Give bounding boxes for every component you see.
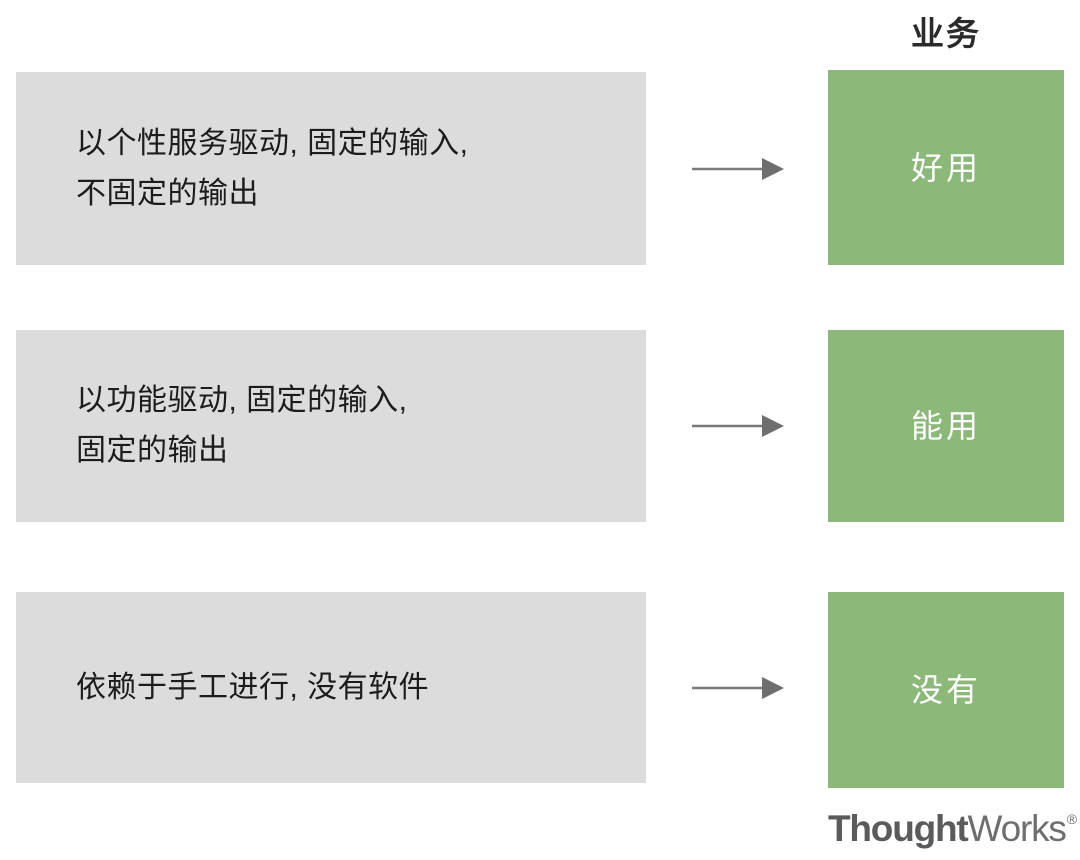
logo-thought-text: Thought bbox=[828, 808, 968, 850]
outcome-box: 没有 bbox=[828, 592, 1064, 788]
arrow-right-icon bbox=[692, 155, 784, 183]
maturity-row: 以功能驱动, 固定的输入, 固定的输出 能用 bbox=[0, 330, 1080, 522]
description-text: 以个性服务驱动, 固定的输入, 不固定的输出 bbox=[16, 119, 493, 219]
description-text: 依赖于手工进行, 没有软件 bbox=[16, 665, 453, 711]
registered-trademark-icon: ® bbox=[1067, 811, 1077, 827]
maturity-row: 依赖于手工进行, 没有软件 没有 bbox=[0, 592, 1080, 783]
description-panel: 以个性服务驱动, 固定的输入, 不固定的输出 bbox=[16, 72, 646, 265]
description-text: 以功能驱动, 固定的输入, 固定的输出 bbox=[16, 376, 432, 476]
column-title-business: 业务 bbox=[828, 12, 1064, 56]
arrow-right-icon bbox=[692, 674, 784, 702]
thoughtworks-logo: ThoughtWorks® bbox=[828, 806, 1064, 852]
outcome-label: 能用 bbox=[911, 404, 981, 448]
arrow-right-icon bbox=[692, 412, 784, 440]
description-panel: 以功能驱动, 固定的输入, 固定的输出 bbox=[16, 330, 646, 522]
diagram-canvas: 业务 以个性服务驱动, 固定的输入, 不固定的输出 好用 以功能驱动, 固定的输… bbox=[0, 0, 1080, 860]
outcome-box: 能用 bbox=[828, 330, 1064, 522]
outcome-label: 没有 bbox=[911, 668, 981, 712]
logo-works-text: Works bbox=[968, 808, 1066, 850]
outcome-box: 好用 bbox=[828, 70, 1064, 265]
description-panel: 依赖于手工进行, 没有软件 bbox=[16, 592, 646, 783]
outcome-label: 好用 bbox=[911, 146, 981, 190]
maturity-row: 以个性服务驱动, 固定的输入, 不固定的输出 好用 bbox=[0, 72, 1080, 265]
